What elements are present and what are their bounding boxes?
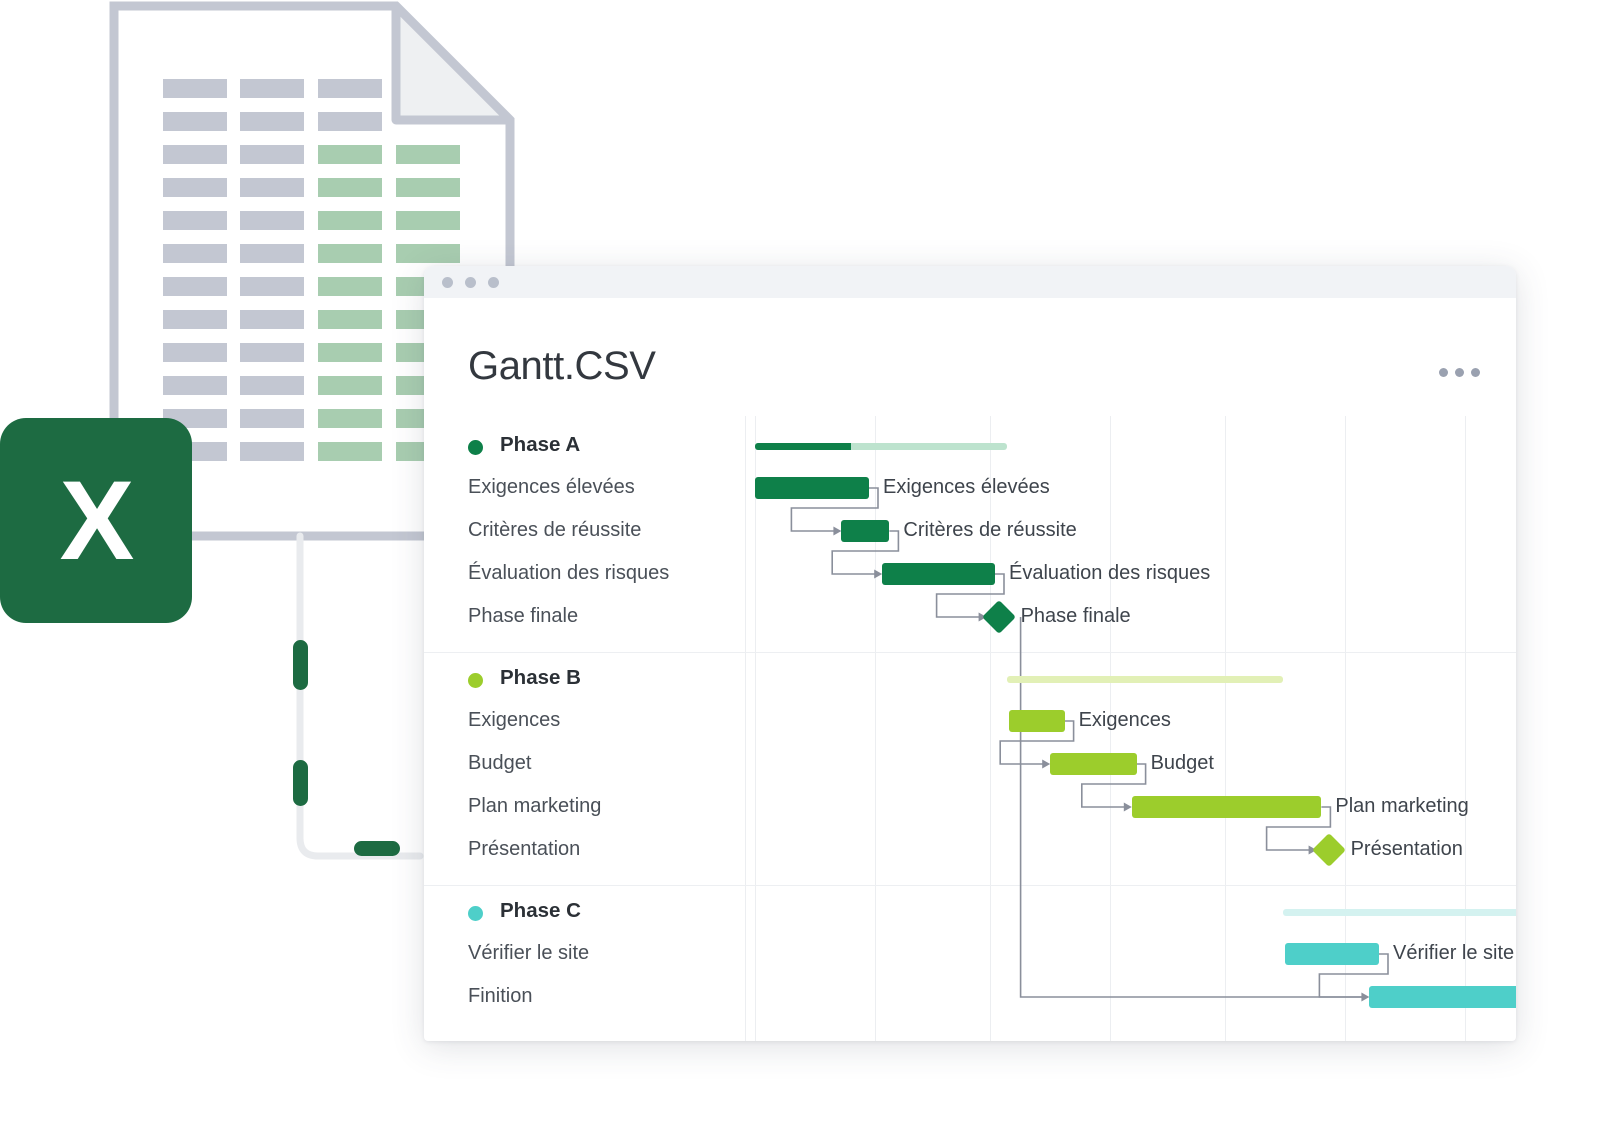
milestone-phase-finale[interactable] [982,600,1016,634]
excel-letter: X [60,465,133,577]
milestone-présentation[interactable] [1312,833,1346,867]
gantt-chart-body: Phase AExigences élevéesCritères de réus… [424,416,1516,1041]
task-bar-exigences[interactable] [1009,710,1064,732]
task-bar-exigences-élevées[interactable] [755,477,869,499]
bar-label-budget: Budget [1151,752,1214,775]
titlebar-dot-2[interactable] [465,277,476,288]
window-titlebar [424,266,1516,298]
titlebar-dot-1[interactable] [442,277,453,288]
page-title: Gantt.CSV [468,344,1516,389]
summary-bar-phase-a-progress [755,443,851,450]
more-dot-1 [1439,368,1448,377]
bar-label-exigences: Exigences [1079,709,1171,732]
gantt-header: Gantt.CSV [424,298,1516,416]
bar-label-plan-marketing: Plan marketing [1335,795,1468,818]
bar-label-exigences-élevées: Exigences élevées [883,476,1050,499]
ellipsis-horizontal-icon[interactable] [1439,368,1480,377]
gantt-bars: Exigences élevéesCritères de réussiteÉva… [424,416,1516,1041]
more-dot-2 [1455,368,1464,377]
bar-label-critères-de-réussite: Critères de réussite [903,519,1076,542]
bar-label-présentation: Présentation [1351,838,1463,861]
task-bar-budget[interactable] [1050,753,1136,775]
task-bar-finition[interactable] [1369,986,1516,1008]
excel-file-icon: X [0,418,192,623]
task-bar-évaluation-des-risques[interactable] [882,563,995,585]
bar-label-évaluation-des-risques: Évaluation des risques [1009,562,1210,585]
task-bar-plan-marketing[interactable] [1132,796,1322,818]
task-bar-critères-de-réussite[interactable] [841,520,889,542]
gantt-window: Gantt.CSV Phase AExigences élevéesCritèr… [424,266,1516,1041]
summary-bar-phase-b[interactable] [1007,676,1283,683]
summary-bar-phase-c[interactable] [1283,909,1516,916]
more-dot-3 [1471,368,1480,377]
task-bar-vérifier-le-site[interactable] [1285,943,1379,965]
screenshot-stage: X Gantt.CSV Phase AExigences élevéesCrit… [0,0,1600,1131]
titlebar-dot-3[interactable] [488,277,499,288]
bar-label-phase-finale: Phase finale [1021,605,1131,628]
bar-label-vérifier-le-site: Vérifier le site [1393,942,1514,965]
